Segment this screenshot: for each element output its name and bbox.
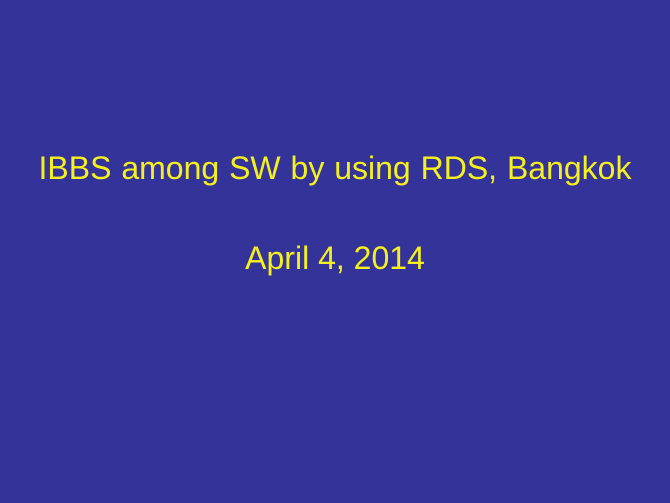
slide-date: April 4, 2014 — [24, 236, 646, 281]
slide-title: IBBS among SW by using RDS, Bangkok — [24, 146, 646, 191]
presentation-slide: IBBS among SW by using RDS, Bangkok Apri… — [0, 0, 670, 503]
slide-text-block: IBBS among SW by using RDS, Bangkok Apri… — [0, 146, 670, 281]
blank-line — [24, 191, 646, 236]
